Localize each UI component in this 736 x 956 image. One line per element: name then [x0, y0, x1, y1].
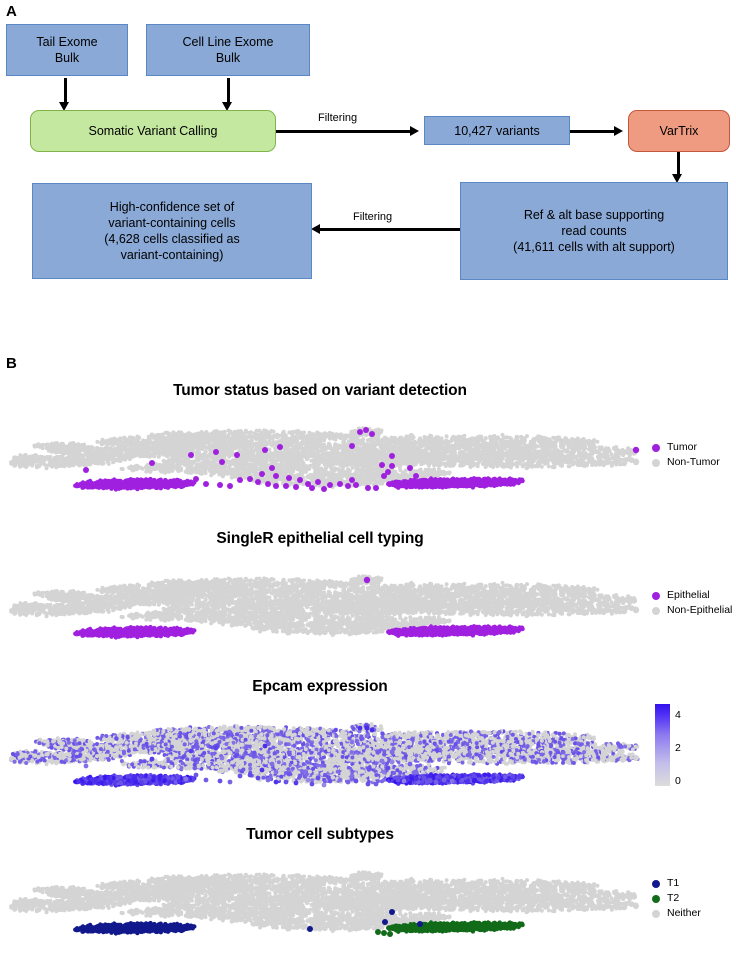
flow-node-label: High-confidence set of variant-containin… — [104, 199, 239, 263]
umap-title: Epcam expression — [0, 678, 640, 696]
colorbar-tick: 2 — [675, 743, 681, 754]
legend-item: Epithelial — [652, 588, 732, 603]
panel-b-umaps: Tumor status based on variant detection … — [0, 352, 736, 938]
legend-item: Non-Epithelial — [652, 603, 732, 618]
edge-label-filtering-bottom: Filtering — [353, 211, 392, 223]
umap-plot-tumor-subtypes: Tumor cell subtypes T1 T2 Neither — [0, 826, 736, 956]
umap-plot-epcam-expression: Epcam expression 4 2 0 — [0, 678, 736, 818]
flow-node-label: Ref & alt base supporting read counts (4… — [513, 207, 675, 255]
legend-color-swatch — [652, 880, 660, 888]
umap-title: Tumor cell subtypes — [0, 826, 640, 844]
legend-color-swatch — [652, 592, 660, 600]
arrow-svc-to-variants — [276, 130, 412, 133]
flow-node-label: 10,427 variants — [454, 123, 539, 139]
umap-svg — [0, 554, 648, 650]
umap-scatter-canvas — [0, 850, 648, 946]
legend-item: T2 — [652, 891, 701, 906]
flow-node-label: Tail Exome Bulk — [36, 34, 97, 66]
arrowhead-svc-to-variants — [410, 126, 419, 136]
legend-label: T1 — [667, 878, 679, 889]
umap-title: SingleR epithelial cell typing — [0, 530, 640, 548]
legend-item: Non-Tumor — [652, 455, 720, 470]
umap-legend: Epithelial Non-Epithelial — [652, 588, 732, 618]
umap-svg — [0, 702, 648, 798]
legend-color-swatch — [652, 459, 660, 467]
colorbar-tick: 0 — [675, 776, 681, 787]
legend-color-swatch — [652, 444, 660, 452]
colorbar-tick: 4 — [675, 710, 681, 721]
flow-node-tail-exome-bulk: Tail Exome Bulk — [6, 24, 128, 76]
legend-color-swatch — [652, 895, 660, 903]
legend-label: T2 — [667, 893, 679, 904]
umap-legend: T1 T2 Neither — [652, 876, 701, 921]
legend-label: Epithelial — [667, 590, 710, 601]
arrowhead-variants-to-vartrix — [614, 126, 623, 136]
epcam-colorbar — [655, 704, 670, 786]
legend-item: T1 — [652, 876, 701, 891]
arrowhead-readcounts-to-highconf — [311, 224, 320, 234]
legend-label: Neither — [667, 908, 701, 919]
arrow-variants-to-vartrix — [570, 130, 616, 133]
umap-legend: Tumor Non-Tumor — [652, 440, 720, 470]
flow-node-cell-line-exome-bulk: Cell Line Exome Bulk — [146, 24, 310, 76]
edge-label-filtering-top: Filtering — [318, 112, 357, 124]
flow-node-somatic-variant-calling: Somatic Variant Calling — [30, 110, 276, 152]
flow-node-label: VarTrix — [660, 123, 699, 139]
umap-plot-singler-epithelial: SingleR epithelial cell typing Epithelia… — [0, 530, 736, 660]
legend-item: Tumor — [652, 440, 720, 455]
flow-node-read-counts: Ref & alt base supporting read counts (4… — [460, 182, 728, 280]
umap-scatter-canvas — [0, 554, 648, 650]
umap-svg — [0, 406, 648, 502]
flow-node-vartrix: VarTrix — [628, 110, 730, 152]
legend-color-swatch — [652, 910, 660, 918]
legend-item: Neither — [652, 906, 701, 921]
legend-label: Non-Tumor — [667, 457, 720, 468]
arrow-readcounts-to-highconf — [320, 228, 460, 231]
flow-node-label: Somatic Variant Calling — [89, 123, 218, 139]
flow-node-variants-count: 10,427 variants — [424, 116, 570, 145]
flow-node-high-confidence-set: High-confidence set of variant-containin… — [32, 183, 312, 279]
arrow-tail-to-svc — [64, 78, 67, 104]
flow-node-label: Cell Line Exome Bulk — [182, 34, 273, 66]
umap-background-points — [9, 722, 639, 784]
umap-svg — [0, 850, 648, 946]
umap-scatter-canvas — [0, 702, 648, 798]
umap-title: Tumor status based on variant detection — [0, 382, 640, 400]
legend-color-swatch — [652, 607, 660, 615]
legend-label: Tumor — [667, 442, 697, 453]
legend-label: Non-Epithelial — [667, 605, 732, 616]
arrow-cellline-to-svc — [227, 78, 230, 104]
umap-plot-tumor-status: Tumor status based on variant detection … — [0, 382, 736, 512]
panel-a-flowchart: Tail Exome Bulk Cell Line Exome Bulk Som… — [0, 0, 736, 330]
umap-scatter-canvas — [0, 406, 648, 502]
